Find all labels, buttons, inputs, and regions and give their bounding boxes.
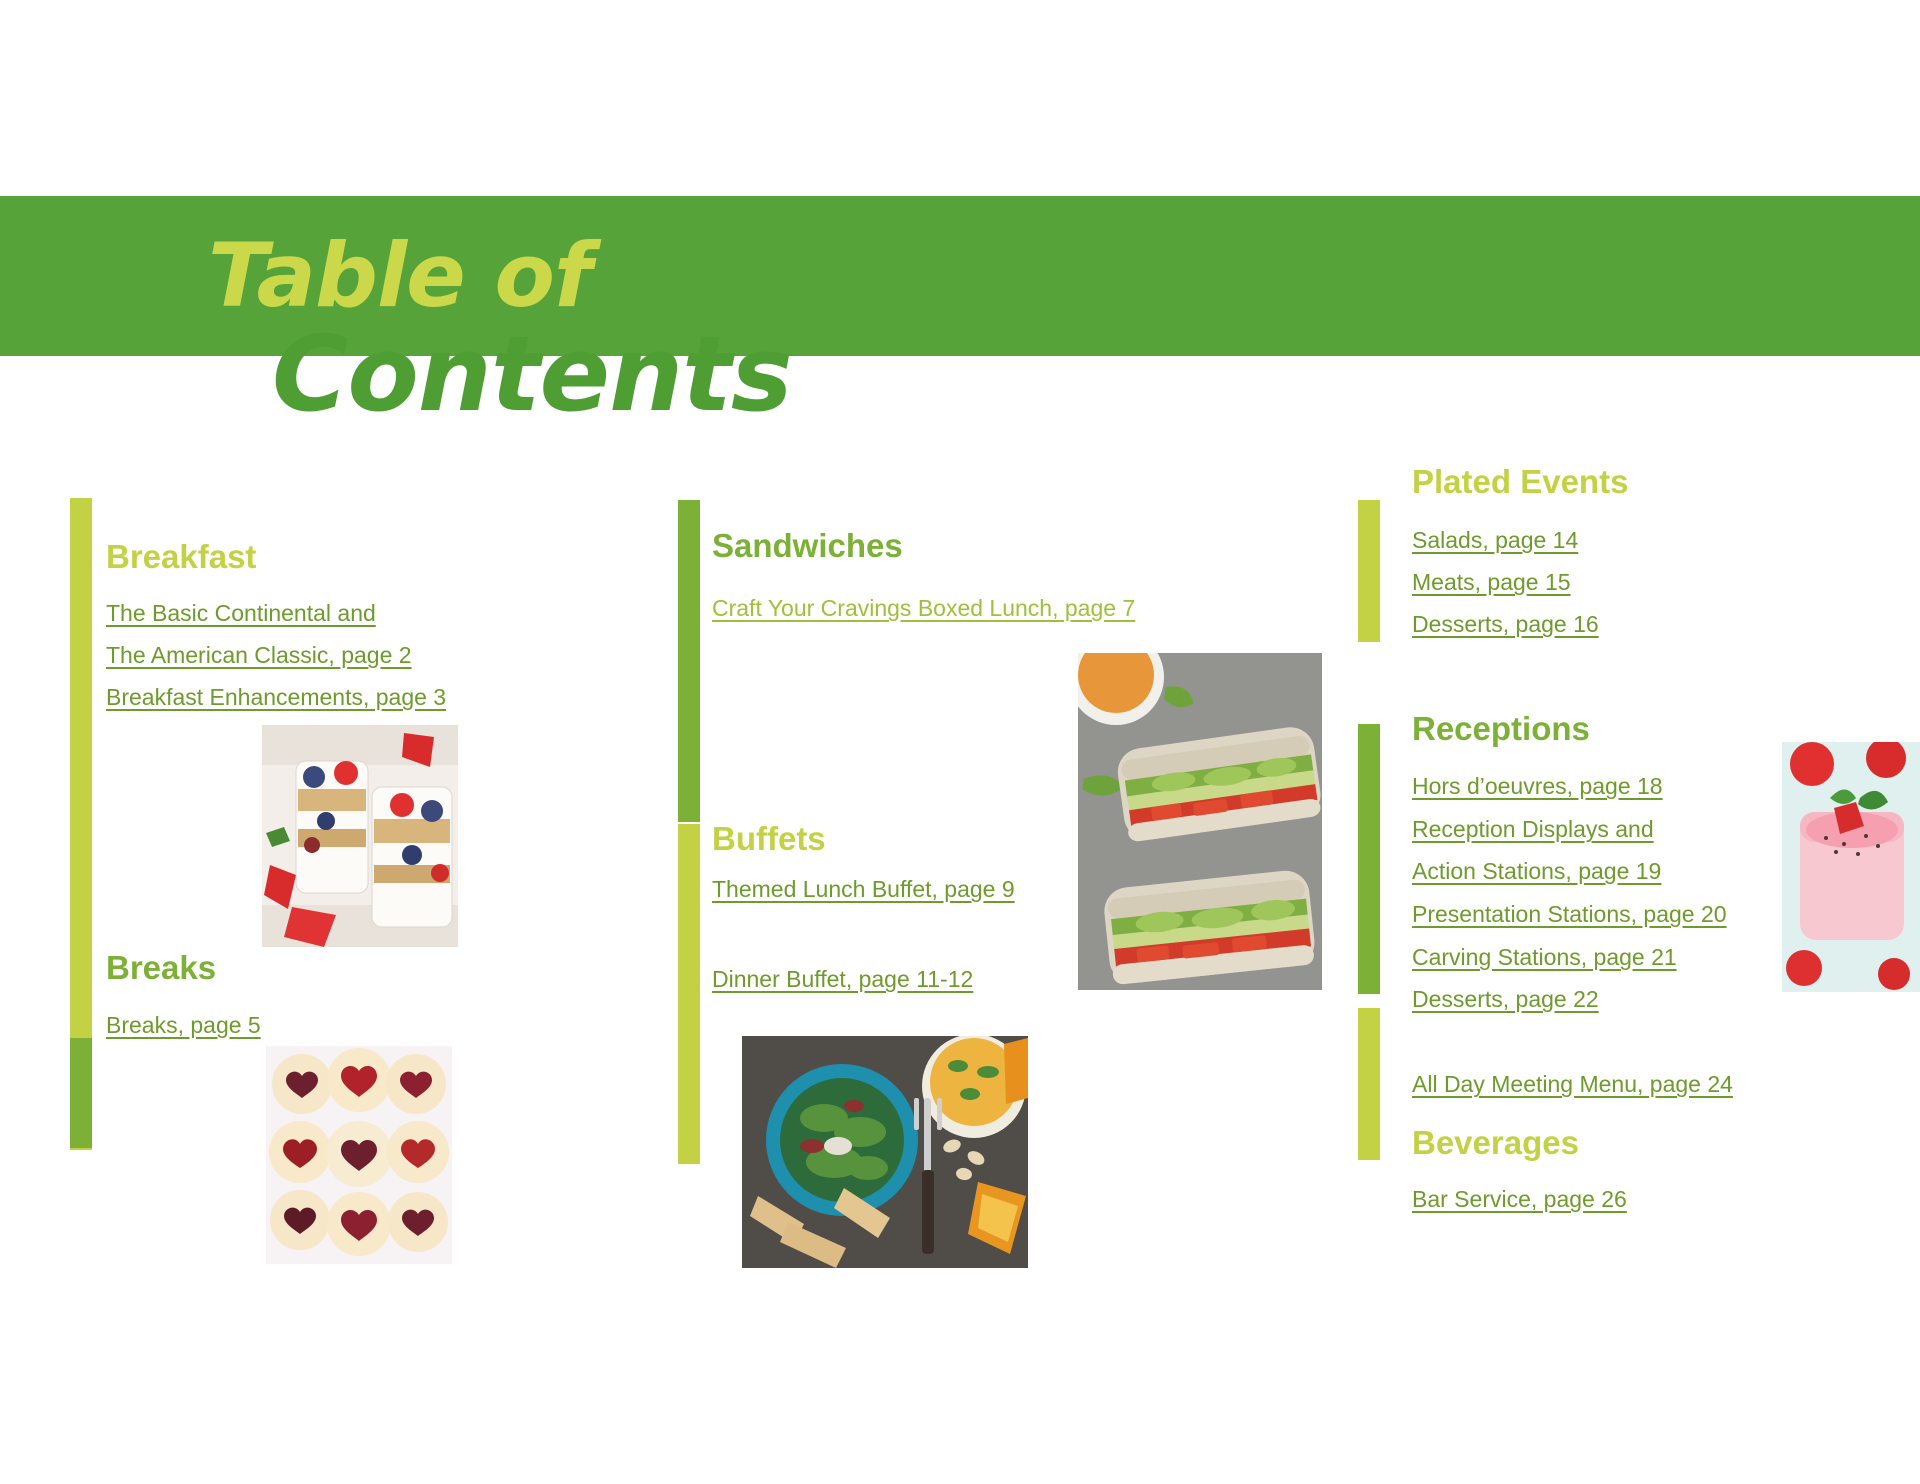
accent-bar-breaks bbox=[70, 1038, 92, 1148]
link-receptions-1[interactable]: Reception Displays and bbox=[1412, 816, 1654, 843]
link-buffets-1[interactable]: Dinner Buffet, page 11-12 bbox=[712, 966, 973, 993]
heading-buffets: Buffets bbox=[712, 820, 826, 858]
title-line-2: Contents bbox=[272, 322, 792, 426]
link-buffets-0[interactable]: Themed Lunch Buffet, page 9 bbox=[712, 876, 1015, 903]
heading-sandwiches: Sandwiches bbox=[712, 527, 903, 565]
link-receptions-5[interactable]: Desserts, page 22 bbox=[1412, 986, 1599, 1013]
link-receptions-3[interactable]: Presentation Stations, page 20 bbox=[1412, 901, 1727, 928]
link-sandwiches-0[interactable]: Craft Your Cravings Boxed Lunch, page 7 bbox=[712, 595, 1135, 622]
link-breakfast-1[interactable]: The American Classic, page 2 bbox=[106, 642, 412, 669]
heading-receptions: Receptions bbox=[1412, 710, 1590, 748]
accent-bar-plated-events bbox=[1358, 500, 1380, 642]
link-plated-1[interactable]: Meats, page 15 bbox=[1412, 569, 1571, 596]
accent-bar-buffets bbox=[678, 824, 700, 1164]
strawberry-smoothie-photo bbox=[1782, 742, 1920, 992]
link-receptions-0[interactable]: Hors d’oeuvres, page 18 bbox=[1412, 773, 1663, 800]
heading-breakfast: Breakfast bbox=[106, 538, 256, 576]
avocado-sandwich-photo bbox=[1078, 653, 1322, 990]
heading-plated-events: Plated Events bbox=[1412, 463, 1628, 501]
heading-breaks: Breaks bbox=[106, 949, 216, 987]
slide-canvas: Table of Contents Breakfast The Basic Co… bbox=[0, 0, 1920, 1484]
link-all-day-meeting-menu[interactable]: All Day Meeting Menu, page 24 bbox=[1412, 1071, 1733, 1098]
salad-bowl-photo bbox=[742, 1036, 1028, 1268]
link-plated-2[interactable]: Desserts, page 16 bbox=[1412, 611, 1599, 638]
link-plated-0[interactable]: Salads, page 14 bbox=[1412, 527, 1578, 554]
link-breakfast-0[interactable]: The Basic Continental and bbox=[106, 600, 376, 627]
yogurt-parfait-photo bbox=[262, 725, 458, 947]
link-receptions-2[interactable]: Action Stations, page 19 bbox=[1412, 858, 1661, 885]
heading-beverages: Beverages bbox=[1412, 1124, 1579, 1162]
accent-bar-beverages bbox=[1358, 1008, 1380, 1160]
heart-jam-cookies-photo bbox=[266, 1046, 452, 1264]
accent-bar-sandwiches bbox=[678, 500, 700, 822]
link-breaks-0[interactable]: Breaks, page 5 bbox=[106, 1012, 261, 1039]
link-breakfast-2[interactable]: Breakfast Enhancements, page 3 bbox=[106, 684, 446, 711]
link-receptions-4[interactable]: Carving Stations, page 21 bbox=[1412, 944, 1677, 971]
accent-bar-receptions bbox=[1358, 724, 1380, 994]
link-bar-service[interactable]: Bar Service, page 26 bbox=[1412, 1186, 1627, 1213]
title-line-1: Table of bbox=[208, 232, 591, 320]
